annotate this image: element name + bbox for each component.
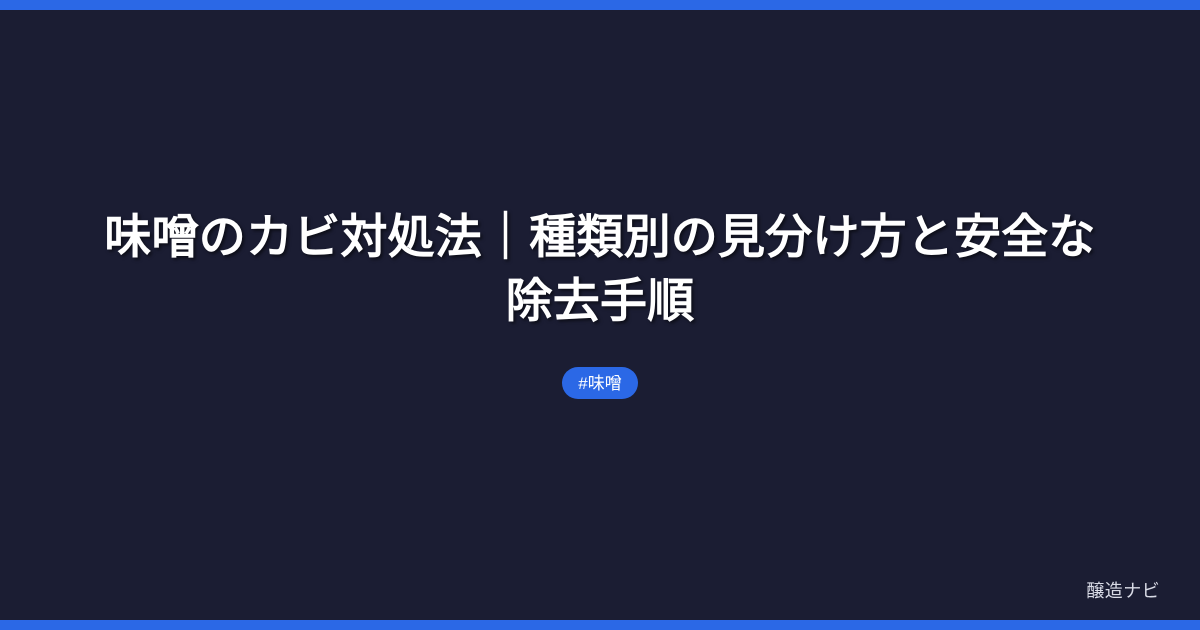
top-accent-bar xyxy=(0,0,1200,10)
ogp-card: 味噌のカビ対処法｜種類別の見分け方と安全な除去手順 #味噌 醸造ナビ xyxy=(0,0,1200,630)
card-content: 味噌のカビ対処法｜種類別の見分け方と安全な除去手順 #味噌 xyxy=(0,205,1200,399)
bottom-accent-bar xyxy=(0,620,1200,630)
tag-list: #味噌 xyxy=(562,367,637,399)
page-title: 味噌のカビ対処法｜種類別の見分け方と安全な除去手順 xyxy=(100,205,1100,333)
site-name: 醸造ナビ xyxy=(1086,582,1160,600)
tag-badge-miso[interactable]: #味噌 xyxy=(562,367,637,399)
